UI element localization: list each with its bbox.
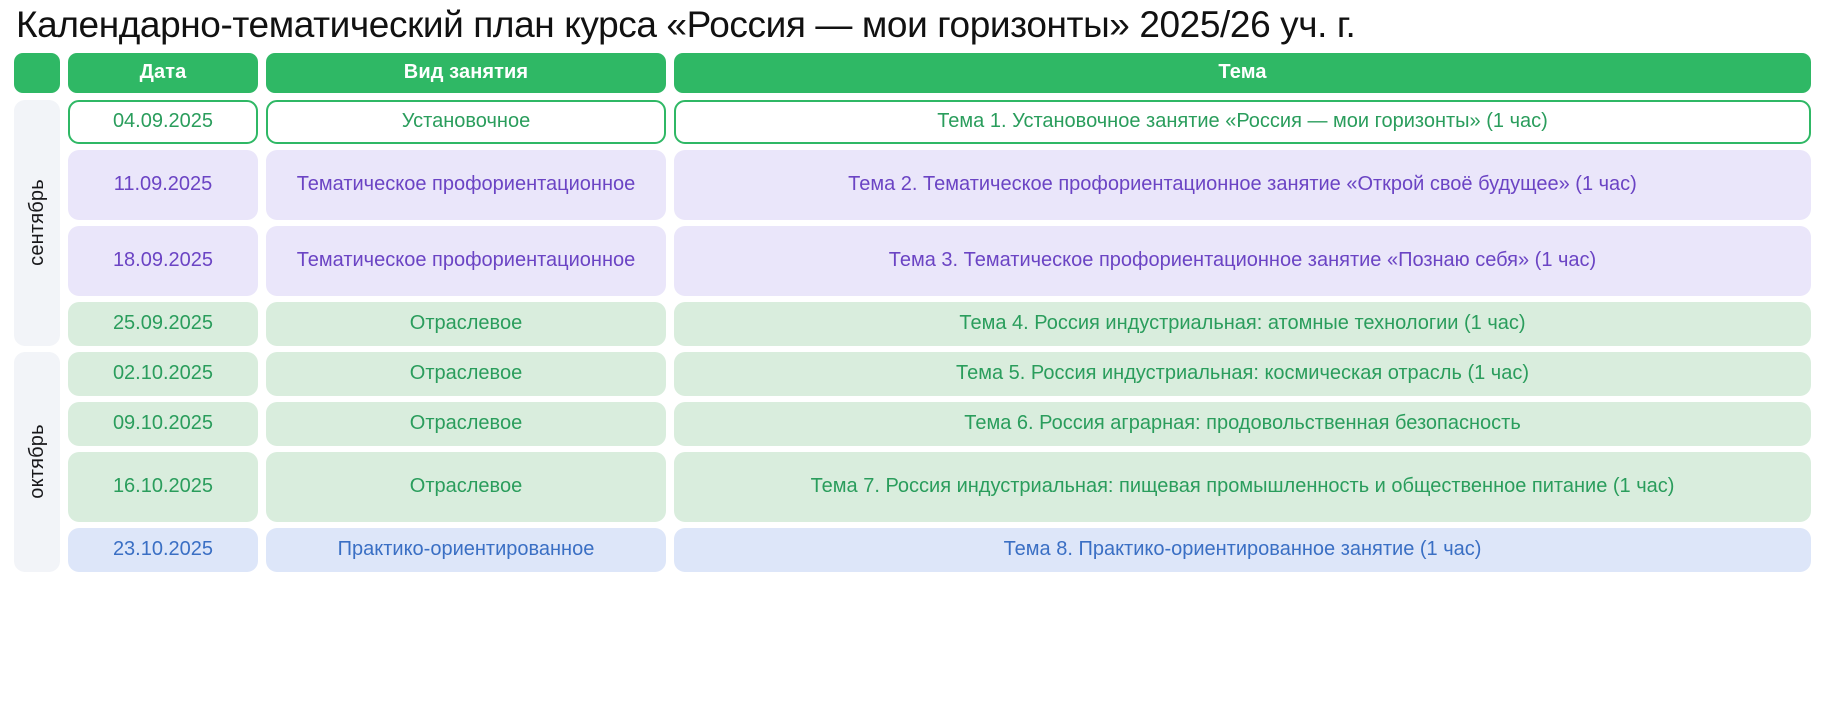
cell-kind-5: Отраслевое xyxy=(266,352,666,396)
column-header-date: Дата xyxy=(68,53,258,93)
cell-date-1: 04.09.2025 xyxy=(68,100,258,144)
cell-topic-5: Тема 5. Россия индустриальная: космическ… xyxy=(674,352,1811,396)
cell-kind-1: Установочное xyxy=(266,100,666,144)
month-label-1: сентябрь xyxy=(14,100,60,346)
table-row: 04.09.2025УстановочноеТема 1. Установочн… xyxy=(68,100,1811,144)
schedule-rows: 04.09.2025УстановочноеТема 1. Установочн… xyxy=(68,100,1811,572)
cell-date-8: 23.10.2025 xyxy=(68,528,258,572)
table-row: 25.09.2025ОтраслевоеТема 4. Россия индус… xyxy=(68,302,1811,346)
schedule-table: Дата Вид занятия Тема сентябрьоктябрь 04… xyxy=(14,53,1811,572)
table-row: 09.10.2025ОтраслевоеТема 6. Россия аграр… xyxy=(68,402,1811,446)
table-row: 23.10.2025Практико-ориентированноеТема 8… xyxy=(68,528,1811,572)
page-title: Календарно-тематический план курса «Росс… xyxy=(14,0,1811,53)
column-header-topic: Тема xyxy=(674,53,1811,93)
cell-date-3: 18.09.2025 xyxy=(68,226,258,296)
month-label-text: октябрь xyxy=(26,425,49,500)
cell-kind-7: Отраслевое xyxy=(266,452,666,522)
schedule-page: Календарно-тематический план курса «Росс… xyxy=(0,0,1825,709)
column-header-month xyxy=(14,53,60,93)
table-row: 11.09.2025Тематическое профориентационно… xyxy=(68,150,1811,220)
table-row: 16.10.2025ОтраслевоеТема 7. Россия индус… xyxy=(68,452,1811,522)
month-rail: сентябрьоктябрь xyxy=(14,100,60,572)
cell-kind-8: Практико-ориентированное xyxy=(266,528,666,572)
cell-kind-3: Тематическое профориентационное xyxy=(266,226,666,296)
table-body: сентябрьоктябрь 04.09.2025УстановочноеТе… xyxy=(14,100,1811,572)
cell-date-7: 16.10.2025 xyxy=(68,452,258,522)
cell-topic-4: Тема 4. Россия индустриальная: атомные т… xyxy=(674,302,1811,346)
cell-topic-6: Тема 6. Россия аграрная: продовольственн… xyxy=(674,402,1811,446)
month-label-2: октябрь xyxy=(14,352,60,572)
cell-topic-7: Тема 7. Россия индустриальная: пищевая п… xyxy=(674,452,1811,522)
cell-date-2: 11.09.2025 xyxy=(68,150,258,220)
cell-topic-2: Тема 2. Тематическое профориентационное … xyxy=(674,150,1811,220)
month-label-text: сентябрь xyxy=(26,179,49,266)
cell-kind-4: Отраслевое xyxy=(266,302,666,346)
cell-kind-6: Отраслевое xyxy=(266,402,666,446)
cell-date-4: 25.09.2025 xyxy=(68,302,258,346)
table-header-row: Дата Вид занятия Тема xyxy=(14,53,1811,93)
cell-topic-1: Тема 1. Установочное занятие «Россия — м… xyxy=(674,100,1811,144)
table-row: 18.09.2025Тематическое профориентационно… xyxy=(68,226,1811,296)
cell-date-6: 09.10.2025 xyxy=(68,402,258,446)
cell-date-5: 02.10.2025 xyxy=(68,352,258,396)
cell-topic-3: Тема 3. Тематическое профориентационное … xyxy=(674,226,1811,296)
table-row: 02.10.2025ОтраслевоеТема 5. Россия индус… xyxy=(68,352,1811,396)
column-header-kind: Вид занятия xyxy=(266,53,666,93)
cell-topic-8: Тема 8. Практико-ориентированное занятие… xyxy=(674,528,1811,572)
cell-kind-2: Тематическое профориентационное xyxy=(266,150,666,220)
